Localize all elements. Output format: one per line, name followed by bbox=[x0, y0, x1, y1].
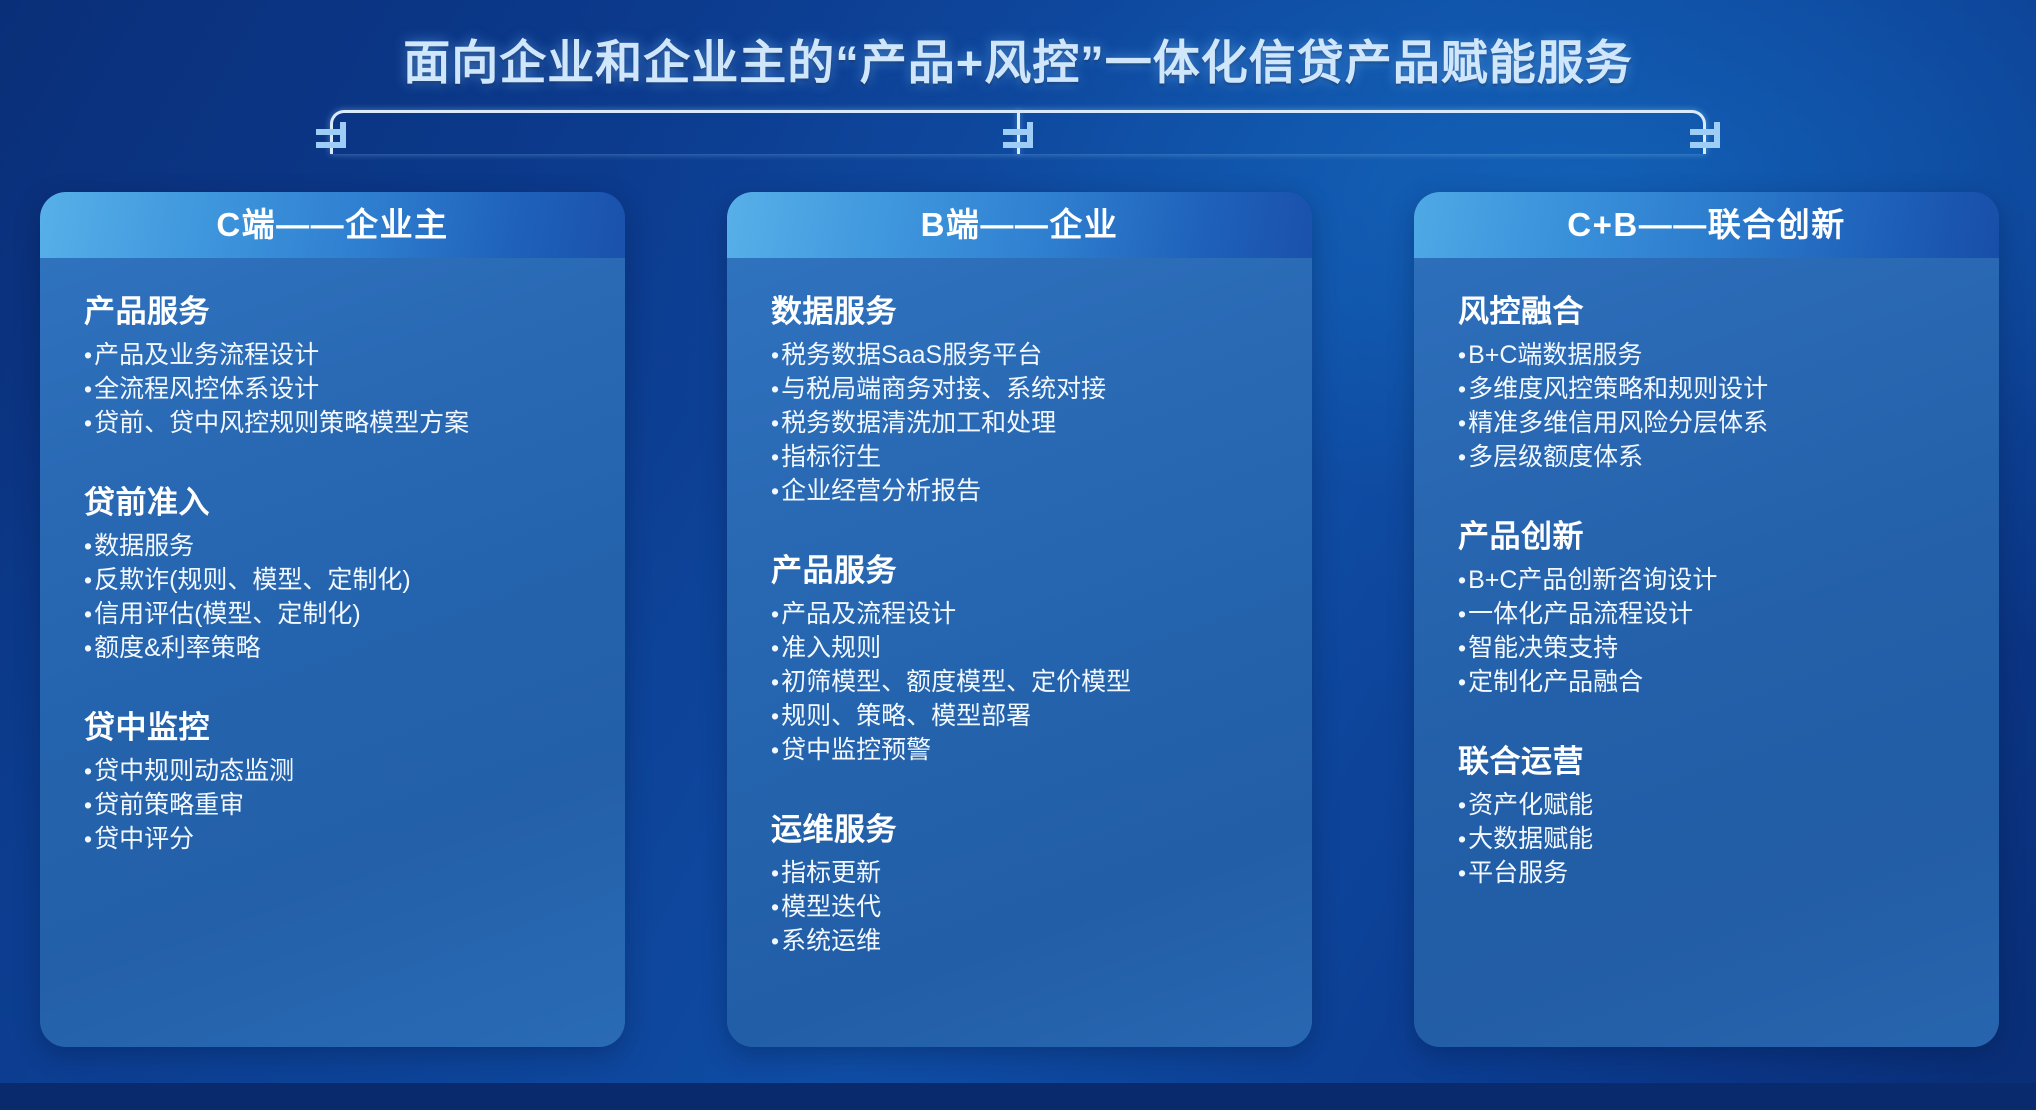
card-b-end[interactable]: B端——企业 数据服务 税务数据SaaS服务平台 与税局端商务对接、系统对接 税… bbox=[727, 192, 1312, 1047]
card-body: 数据服务 税务数据SaaS服务平台 与税局端商务对接、系统对接 税务数据清洗加工… bbox=[727, 258, 1312, 1047]
card-body: 风控融合 B+C端数据服务 多维度风控策略和规则设计 精准多维信用风险分层体系 … bbox=[1414, 258, 1999, 1047]
section-bullet-list: B+C产品创新咨询设计 一体化产品流程设计 智能决策支持 定制化产品融合 bbox=[1458, 566, 1969, 702]
list-item: 规则、策略、模型部署 bbox=[771, 702, 1282, 736]
list-item: 数据服务 bbox=[84, 532, 595, 566]
list-item: 企业经营分析报告 bbox=[771, 477, 1282, 511]
list-item: 定制化产品融合 bbox=[1458, 668, 1969, 702]
section-title: 产品服务 bbox=[771, 545, 1282, 590]
list-item: 产品及业务流程设计 bbox=[84, 341, 595, 375]
section: 联合运营 资产化赋能 大数据赋能 平台服务 bbox=[1458, 736, 1969, 893]
list-item: 与税局端商务对接、系统对接 bbox=[771, 375, 1282, 409]
section-title: 贷中监控 bbox=[84, 702, 595, 747]
page-title: 面向企业和企业主的“产品+风控”一体化信贷产品赋能服务 bbox=[0, 24, 2036, 93]
list-item: 贷前策略重审 bbox=[84, 791, 595, 825]
section-bullet-list: 贷中规则动态监测 贷前策略重审 贷中评分 bbox=[84, 757, 595, 859]
card-c-plus-b[interactable]: C+B——联合创新 风控融合 B+C端数据服务 多维度风控策略和规则设计 精准多… bbox=[1414, 192, 1999, 1047]
card-header-label: B端——企业 bbox=[727, 192, 1312, 258]
section: 贷中监控 贷中规则动态监测 贷前策略重审 贷中评分 bbox=[84, 702, 595, 859]
list-item: 大数据赋能 bbox=[1458, 825, 1969, 859]
card-c-end[interactable]: C端——企业主 产品服务 产品及业务流程设计 全流程风控体系设计 贷前、贷中风控… bbox=[40, 192, 625, 1047]
section-bullet-list: 产品及流程设计 准入规则 初筛模型、额度模型、定价模型 规则、策略、模型部署 贷… bbox=[771, 600, 1282, 770]
list-item: 贷中规则动态监测 bbox=[84, 757, 595, 791]
list-item: 多维度风控策略和规则设计 bbox=[1458, 375, 1969, 409]
list-item: 多层级额度体系 bbox=[1458, 443, 1969, 477]
section-title: 贷前准入 bbox=[84, 477, 595, 522]
list-item: 全流程风控体系设计 bbox=[84, 375, 595, 409]
section-title: 风控融合 bbox=[1458, 286, 1969, 331]
section: 产品服务 产品及业务流程设计 全流程风控体系设计 贷前、贷中风控规则策略模型方案 bbox=[84, 286, 595, 443]
list-item: 智能决策支持 bbox=[1458, 634, 1969, 668]
list-item: 产品及流程设计 bbox=[771, 600, 1282, 634]
section-title: 数据服务 bbox=[771, 286, 1282, 331]
list-item: 税务数据清洗加工和处理 bbox=[771, 409, 1282, 443]
section-title: 运维服务 bbox=[771, 804, 1282, 849]
list-item: 税务数据SaaS服务平台 bbox=[771, 341, 1282, 375]
section: 贷前准入 数据服务 反欺诈(规则、模型、定制化) 信用评估(模型、定制化) 额度… bbox=[84, 477, 595, 668]
section-title: 联合运营 bbox=[1458, 736, 1969, 781]
list-item: 资产化赋能 bbox=[1458, 791, 1969, 825]
list-item: 模型迭代 bbox=[771, 893, 1282, 927]
list-item: 反欺诈(规则、模型、定制化) bbox=[84, 566, 595, 600]
section-bullet-list: 数据服务 反欺诈(规则、模型、定制化) 信用评估(模型、定制化) 额度&利率策略 bbox=[84, 532, 595, 668]
card-body: 产品服务 产品及业务流程设计 全流程风控体系设计 贷前、贷中风控规则策略模型方案… bbox=[40, 258, 625, 1047]
list-item: 一体化产品流程设计 bbox=[1458, 600, 1969, 634]
card-header-label: C+B——联合创新 bbox=[1414, 192, 1999, 258]
list-item: 信用评估(模型、定制化) bbox=[84, 600, 595, 634]
section: 风控融合 B+C端数据服务 多维度风控策略和规则设计 精准多维信用风险分层体系 … bbox=[1458, 286, 1969, 477]
list-item: 额度&利率策略 bbox=[84, 634, 595, 668]
list-item: B+C端数据服务 bbox=[1458, 341, 1969, 375]
section-bullet-list: B+C端数据服务 多维度风控策略和规则设计 精准多维信用风险分层体系 多层级额度… bbox=[1458, 341, 1969, 477]
slide-canvas: 面向企业和企业主的“产品+风控”一体化信贷产品赋能服务 C端——企业主 产品服务… bbox=[0, 0, 2036, 1083]
list-item: 贷中评分 bbox=[84, 825, 595, 859]
list-item: 贷中监控预警 bbox=[771, 736, 1282, 770]
section: 产品服务 产品及流程设计 准入规则 初筛模型、额度模型、定价模型 规则、策略、模… bbox=[771, 545, 1282, 770]
section-bullet-list: 税务数据SaaS服务平台 与税局端商务对接、系统对接 税务数据清洗加工和处理 指… bbox=[771, 341, 1282, 511]
list-item: 指标更新 bbox=[771, 859, 1282, 893]
list-item: 精准多维信用风险分层体系 bbox=[1458, 409, 1969, 443]
list-item: 准入规则 bbox=[771, 634, 1282, 668]
section-title: 产品服务 bbox=[84, 286, 595, 331]
section-bullet-list: 产品及业务流程设计 全流程风控体系设计 贷前、贷中风控规则策略模型方案 bbox=[84, 341, 595, 443]
section-bullet-list: 指标更新 模型迭代 系统运维 bbox=[771, 859, 1282, 961]
section: 产品创新 B+C产品创新咨询设计 一体化产品流程设计 智能决策支持 定制化产品融… bbox=[1458, 511, 1969, 702]
section: 运维服务 指标更新 模型迭代 系统运维 bbox=[771, 804, 1282, 961]
section-bullet-list: 资产化赋能 大数据赋能 平台服务 bbox=[1458, 791, 1969, 893]
list-item: 系统运维 bbox=[771, 927, 1282, 961]
section: 数据服务 税务数据SaaS服务平台 与税局端商务对接、系统对接 税务数据清洗加工… bbox=[771, 286, 1282, 511]
bottom-bar bbox=[0, 1083, 2036, 1110]
list-item: 平台服务 bbox=[1458, 859, 1969, 893]
list-item: 贷前、贷中风控规则策略模型方案 bbox=[84, 409, 595, 443]
list-item: B+C产品创新咨询设计 bbox=[1458, 566, 1969, 600]
section-title: 产品创新 bbox=[1458, 511, 1969, 556]
card-header-label: C端——企业主 bbox=[40, 192, 625, 258]
list-item: 初筛模型、额度模型、定价模型 bbox=[771, 668, 1282, 702]
list-item: 指标衍生 bbox=[771, 443, 1282, 477]
